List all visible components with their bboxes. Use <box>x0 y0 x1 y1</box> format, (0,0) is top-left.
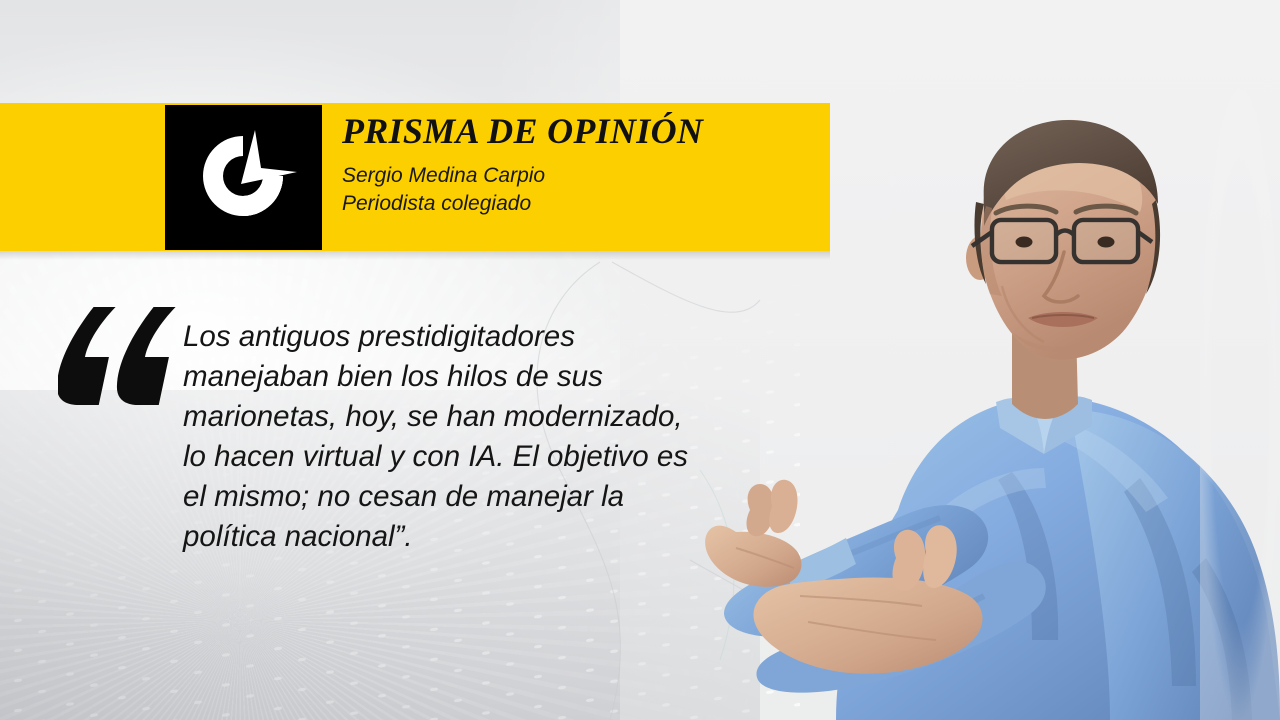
quote-text: Los antiguos prestidigitadores manejaban… <box>183 317 723 557</box>
logo-container <box>165 105 322 250</box>
quote-line: lo hacen virtual y con IA. El objetivo e… <box>183 437 723 477</box>
quote-line: política nacional”. <box>183 517 723 557</box>
quote-line: manejaban bien los hilos de sus <box>183 357 723 397</box>
open-quote-icon <box>58 305 176 410</box>
page-title: PRISMA DE OPINIÓN <box>342 112 812 150</box>
graphic-canvas: PRISMA DE OPINIÓN Sergio Medina Carpio P… <box>0 0 1280 720</box>
banner-text-block: PRISMA DE OPINIÓN Sergio Medina Carpio P… <box>342 112 812 218</box>
prisma-arrow-circle-logo-icon <box>185 122 303 234</box>
quote-line: Los antiguos prestidigitadores <box>183 317 723 357</box>
quote-line: el mismo; no cesan de manejar la <box>183 477 723 517</box>
author-name: Sergio Medina Carpio <box>342 162 812 190</box>
author-role: Periodista colegiado <box>342 190 812 218</box>
quote-line: marionetas, hoy, se han modernizado, <box>183 397 723 437</box>
header-banner-shadow <box>0 251 830 260</box>
